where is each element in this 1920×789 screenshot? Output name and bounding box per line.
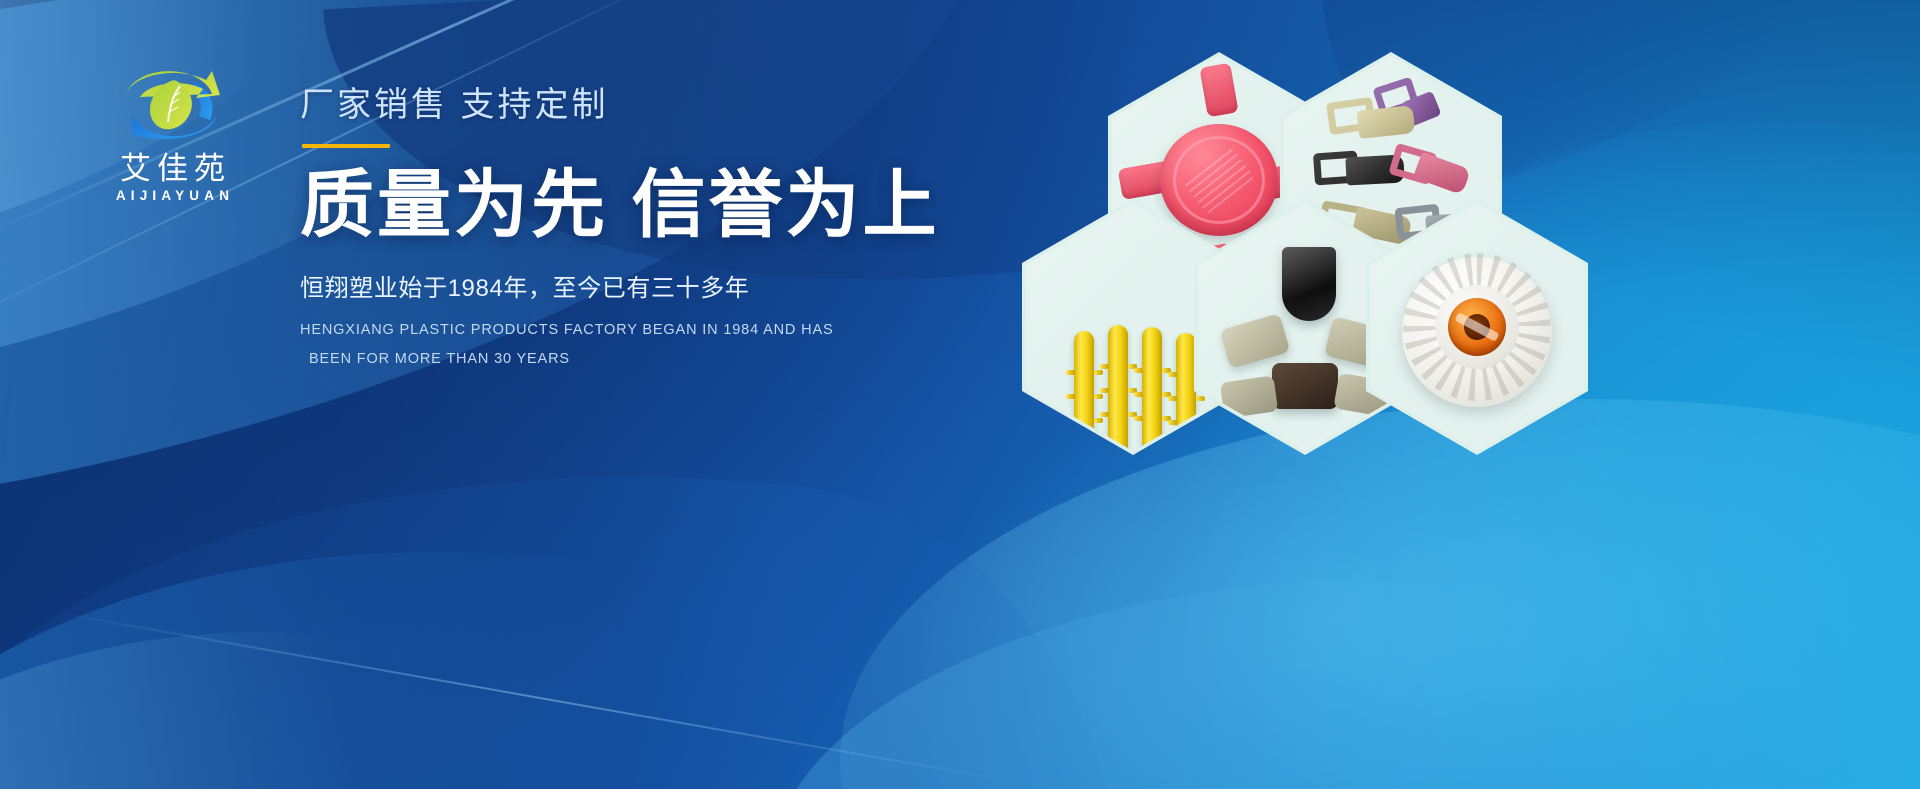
subtitle-en-line-1: HENGXIANG PLASTIC PRODUCTS FACTORY BEGAN…: [300, 316, 940, 345]
headline-block: 厂家销售 支持定制 质量为先 信誉为上 恒翔塑业始于1984年，至今已有三十多年…: [300, 88, 940, 374]
subtitle-cn: 恒翔塑业始于1984年，至今已有三十多年: [300, 268, 940, 303]
accent-rule: [302, 144, 390, 148]
background-glow-bottom-right: [840, 399, 1920, 789]
leaf-swoosh-logo-icon: [108, 58, 238, 150]
background-wave-7: [752, 558, 1668, 789]
subtitle-en: HENGXIANG PLASTIC PRODUCTS FACTORY BEGAN…: [300, 316, 940, 374]
background-wave-4: [0, 395, 1171, 789]
promotional-banner: 艾佳苑 AIJIAYUAN 厂家销售 支持定制 质量为先 信誉为上 恒翔塑业始于…: [0, 0, 1920, 789]
brand-name-en: AIJIAYUAN: [85, 188, 260, 203]
product-hexagon-gallery: [1000, 52, 1640, 392]
brand-logo: 艾佳苑 AIJIAYUAN: [85, 58, 260, 203]
subtitle-en-line-2: BEEN FOR MORE THAN 30 YEARS: [300, 345, 940, 374]
background-wave-6: [0, 548, 609, 789]
page-title: 质量为先 信誉为上: [300, 166, 940, 244]
background-streak-3: [47, 610, 1032, 786]
kicker-text: 厂家销售 支持定制: [300, 88, 940, 122]
brand-name-cn: 艾佳苑: [85, 152, 260, 187]
background-wave-5: [0, 458, 898, 789]
